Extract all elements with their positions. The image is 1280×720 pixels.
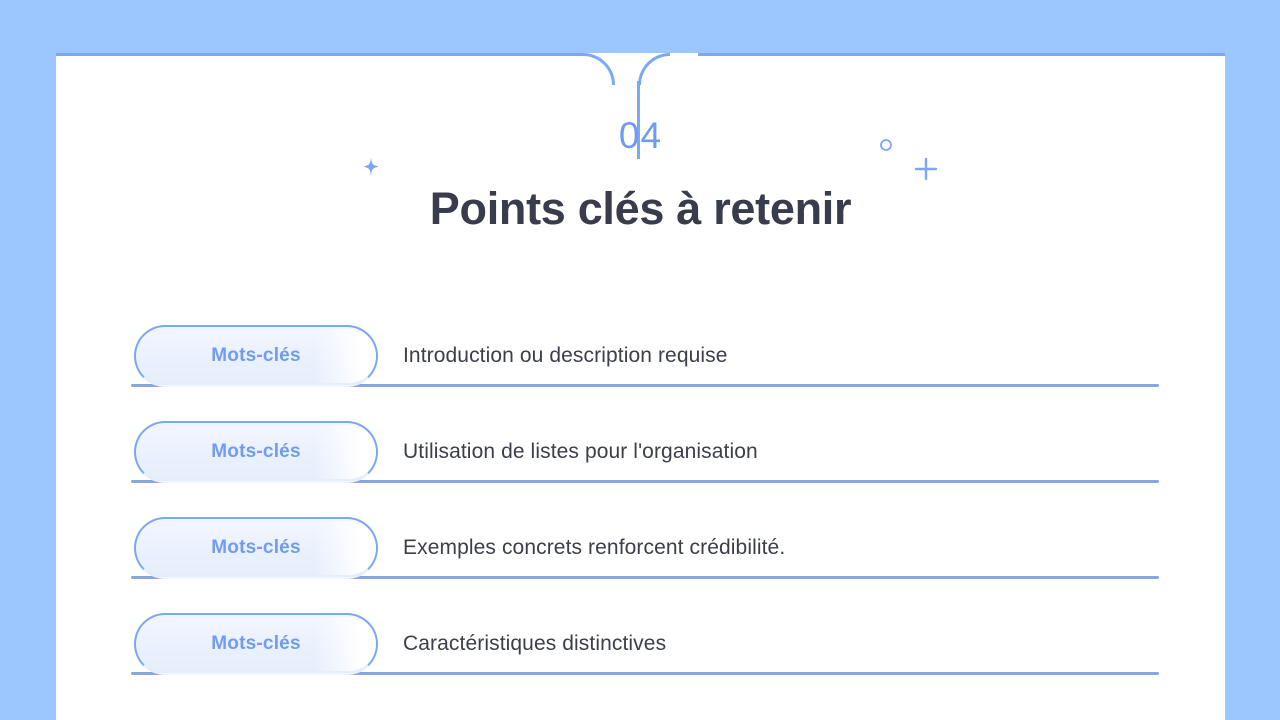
list-item-text: Exemples concrets renforcent crédibilité… <box>403 517 785 579</box>
keyword-pill[interactable]: Mots-clés <box>134 517 378 579</box>
list-item[interactable]: Mots-clés Introduction ou description re… <box>131 291 1159 387</box>
card-top-rule-right <box>698 53 1225 56</box>
section-number: 04 <box>56 117 1225 154</box>
keyword-pill[interactable]: Mots-clés <box>134 613 378 675</box>
notch-arc-left <box>583 53 615 85</box>
list-item[interactable]: Mots-clés Exemples concrets renforcent c… <box>131 483 1159 579</box>
sparkle-icon <box>358 155 384 181</box>
keyword-pill[interactable]: Mots-clés <box>134 421 378 483</box>
page-title: Points clés à retenir <box>56 183 1225 235</box>
list-item-text: Caractéristiques distinctives <box>403 613 666 675</box>
card-top-rule-left <box>56 53 583 56</box>
list-item-text: Introduction ou description requise <box>403 325 728 387</box>
plus-icon <box>913 156 939 182</box>
key-points-list: Mots-clés Introduction ou description re… <box>131 291 1159 675</box>
slide-canvas: 04 Points clés à retenir Mots-clés <box>0 0 1280 720</box>
keyword-pill-fade <box>314 329 376 383</box>
keyword-pill-fade <box>314 425 376 479</box>
keyword-pill-fade <box>314 617 376 671</box>
keyword-pill[interactable]: Mots-clés <box>134 325 378 387</box>
list-item[interactable]: Mots-clés Utilisation de listes pour l'o… <box>131 387 1159 483</box>
keyword-pill-fade <box>314 521 376 575</box>
notch-arc-right <box>638 53 670 85</box>
slide-card: 04 Points clés à retenir Mots-clés <box>56 53 1225 720</box>
list-item[interactable]: Mots-clés Caractéristiques distinctives <box>131 579 1159 675</box>
list-item-text: Utilisation de listes pour l'organisatio… <box>403 421 758 483</box>
